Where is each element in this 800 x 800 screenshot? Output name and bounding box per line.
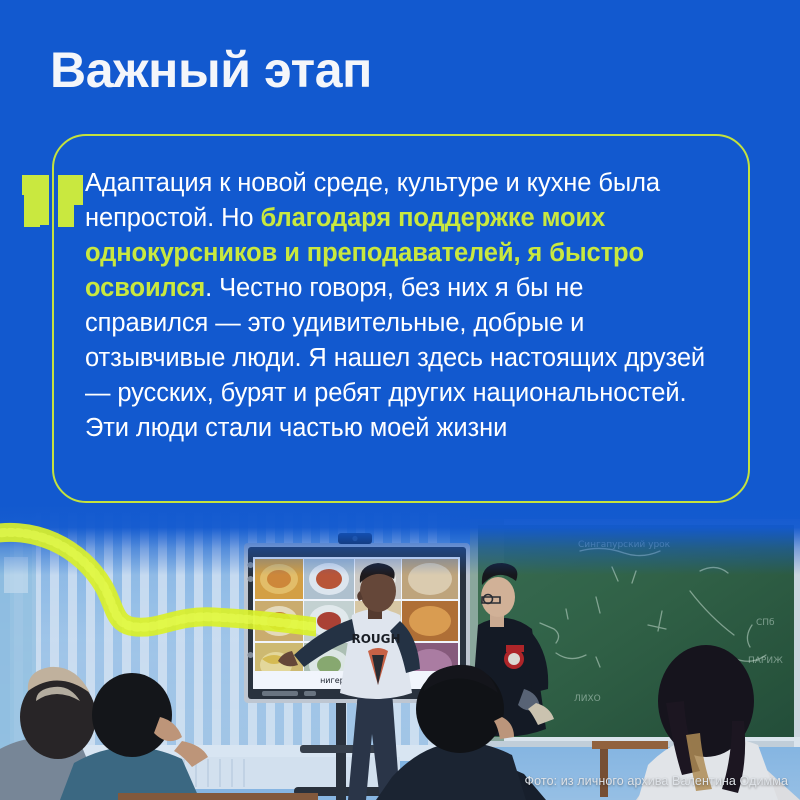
quote-text: Адаптация к новой среде, культуре и кухн… (85, 166, 710, 446)
classroom-photo: Сингапурский урок СПб ПАРИЖ ЛИХО (0, 505, 800, 800)
photo-region: Сингапурский урок СПб ПАРИЖ ЛИХО (0, 505, 800, 800)
quote-open-icon (22, 167, 88, 229)
photo-credit: Фото: из личного архива Валентина Одимма (525, 774, 788, 788)
slide-root: Важный этап Адаптация к новой среде, кул… (0, 0, 800, 800)
page-title: Важный этап (50, 40, 372, 100)
